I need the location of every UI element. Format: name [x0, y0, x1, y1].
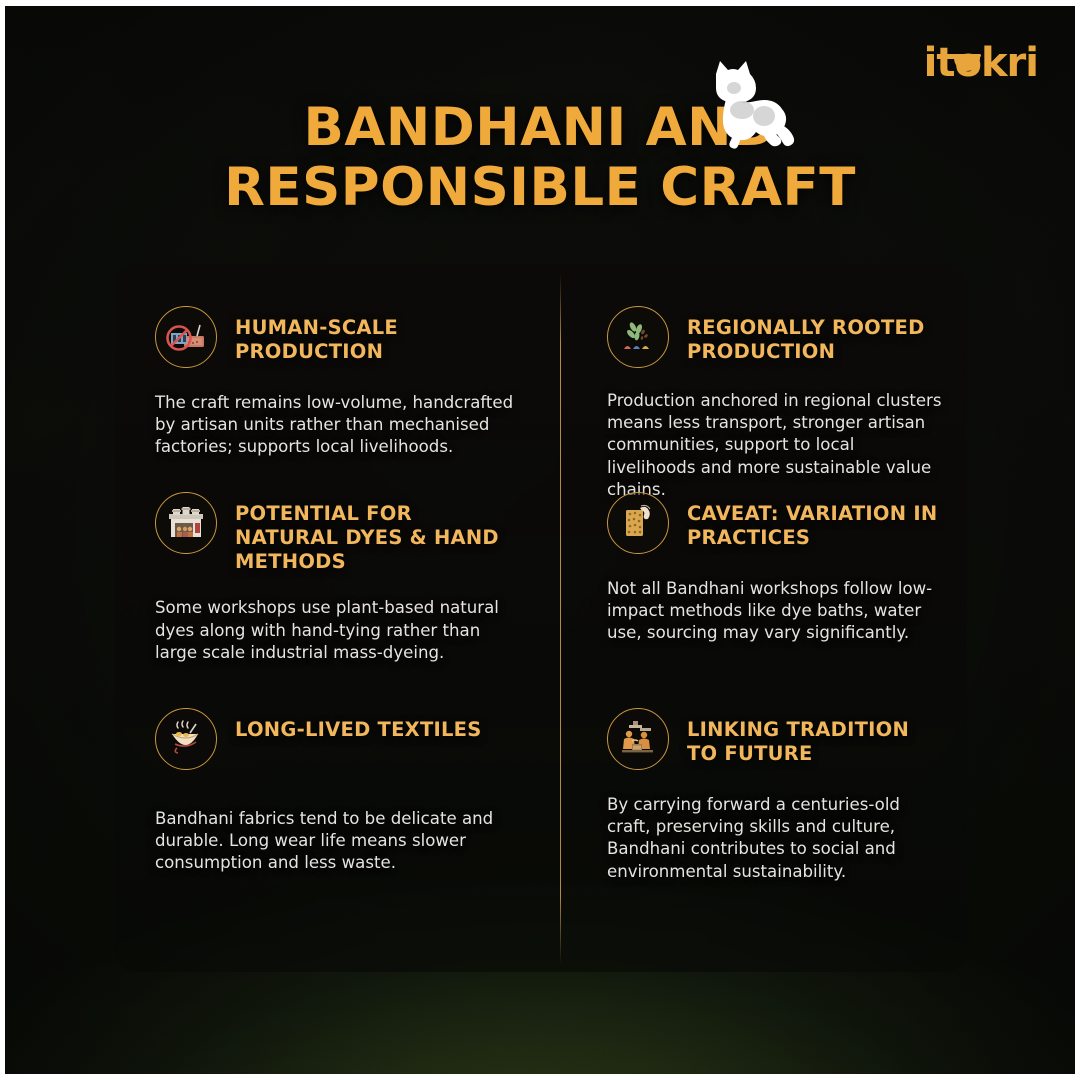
feature-title: REGIONALLY ROOTED PRODUCTION	[687, 306, 945, 364]
no-factory-icon	[155, 306, 217, 368]
feature-item-human-scale-production: HUMAN-SCALE PRODUCTION The craft remains…	[115, 264, 545, 464]
feature-title: HUMAN-SCALE PRODUCTION	[235, 306, 519, 364]
dye-pot-icon	[155, 708, 217, 770]
feature-item-caveat-variation-in-practices: CAVEAT: VARIATION IN PRACTICES Not all B…	[545, 464, 967, 672]
feature-header: LINKING TRADITION TO FUTURE	[607, 708, 945, 770]
feature-body: By carrying forward a centuries-old craf…	[607, 794, 945, 883]
feature-header: CAVEAT: VARIATION IN PRACTICES	[607, 492, 945, 554]
feature-title: LINKING TRADITION TO FUTURE	[687, 708, 945, 766]
feature-item-natural-dyes-hand-methods: POTENTIAL FOR NATURAL DYES & HAND METHOD…	[115, 464, 545, 672]
page-title: BANDHANI AND RESPONSIBLE CRAFT	[0, 98, 1080, 219]
feature-title: LONG-LIVED TEXTILES	[235, 708, 482, 742]
feature-title: POTENTIAL FOR NATURAL DYES & HAND METHOD…	[235, 492, 519, 573]
infographic-poster: itokri BANDHANI AND RESPONSIBLE CRAFT	[0, 0, 1080, 1080]
title-line-1: BANDHANI AND	[0, 98, 1080, 158]
feature-body: Not all Bandhani workshops follow low-im…	[607, 578, 945, 645]
brand-logo[interactable]: itokri	[924, 40, 1038, 86]
feature-header: HUMAN-SCALE PRODUCTION	[155, 306, 519, 368]
feature-body: The craft remains low-volume, handcrafte…	[155, 392, 519, 459]
two-artisans-icon	[607, 708, 669, 770]
hand-holding-fabric-icon	[607, 492, 669, 554]
feature-body: Bandhani fabrics tend to be delicate and…	[155, 808, 519, 875]
feature-header: LONG-LIVED TEXTILES	[155, 708, 519, 770]
feature-header: POTENTIAL FOR NATURAL DYES & HAND METHOD…	[155, 492, 519, 573]
feature-item-linking-tradition-to-future: LINKING TRADITION TO FUTURE By carrying …	[545, 672, 967, 972]
natural-dye-leaves-icon	[607, 306, 669, 368]
workshop-building-icon	[155, 492, 217, 554]
feature-title: CAVEAT: VARIATION IN PRACTICES	[687, 492, 945, 550]
title-line-2: RESPONSIBLE CRAFT	[0, 158, 1080, 218]
brand-name: itokri	[924, 43, 1038, 83]
content-panel: HUMAN-SCALE PRODUCTION The craft remains…	[115, 264, 967, 972]
feature-item-long-lived-textiles: LONG-LIVED TEXTILES Bandhani fabrics ten…	[115, 672, 545, 972]
feature-body: Some workshops use plant-based natural d…	[155, 597, 519, 664]
feature-item-regionally-rooted-production: REGIONALLY ROOTED PRODUCTION Production …	[545, 264, 967, 464]
feature-header: REGIONALLY ROOTED PRODUCTION	[607, 306, 945, 368]
